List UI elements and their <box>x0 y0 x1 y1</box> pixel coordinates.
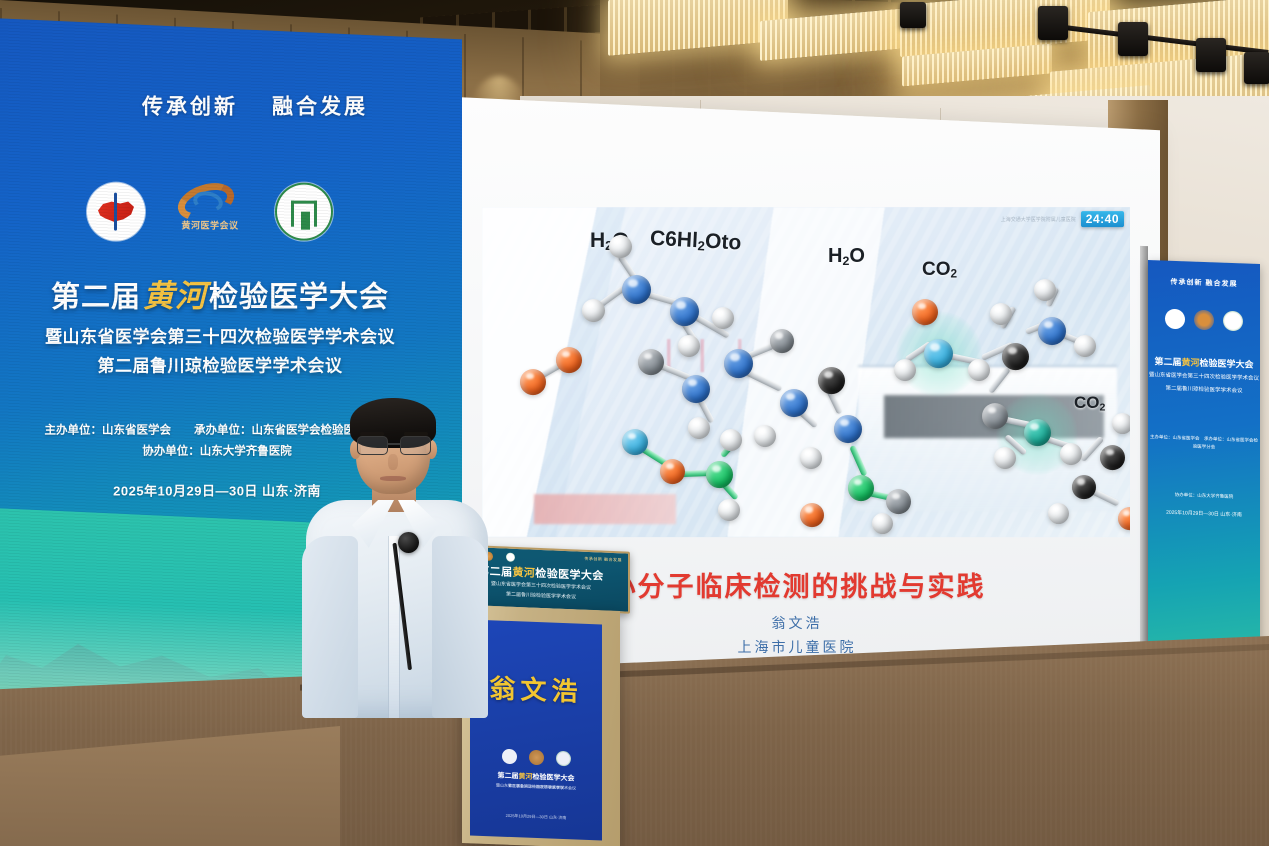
panel-title-highlight: 黄河 <box>519 773 533 781</box>
panel-title-prefix: 第二届 <box>498 773 519 781</box>
banner-title-prefix: 第二届 <box>1154 356 1181 367</box>
atom-oxygen <box>912 299 938 325</box>
left-arm <box>302 536 358 718</box>
atom-hydrogen <box>1048 503 1069 524</box>
molecule-illustration: H2O C6Hl2Oto H2O CO2 CO2 <box>482 207 1130 537</box>
atom-carbon <box>1072 475 1096 499</box>
formula-co2-right: CO2 <box>1074 393 1105 413</box>
stage-spotlight <box>900 2 926 28</box>
mouth <box>380 476 406 481</box>
huanghe-medical-conference-logo <box>529 750 544 766</box>
microphone-icon <box>398 532 419 553</box>
atom-oxygen <box>622 429 648 455</box>
atom-hydrogen <box>678 335 700 357</box>
atom-carbon <box>1100 445 1125 470</box>
banner-title-highlight: 黄河 <box>1181 357 1199 368</box>
shandong-medical-association-logo <box>87 183 145 241</box>
slide-watermark: 上海交通大学医学院附属儿童医院 24:40 <box>1001 211 1124 227</box>
backdrop-logo-row: 黄河医学会议 <box>87 183 333 241</box>
atom-nitrogen <box>924 339 953 368</box>
watermark-text: 上海交通大学医学院附属儿童医院 <box>1001 216 1076 223</box>
banner-organizer-2: 协办单位：山东大学齐鲁医院 <box>1148 490 1260 502</box>
atom-hydrogen <box>688 417 710 439</box>
atom-nitrogen <box>670 297 699 326</box>
atom-nitrogen <box>834 415 862 443</box>
glasses <box>356 436 432 456</box>
backdrop-title-line1: 第二届黄河检验医学大会 <box>10 271 430 316</box>
atom-carbon <box>770 329 794 353</box>
atom-nitrogen <box>780 389 808 417</box>
qilu-hospital-logo <box>556 751 571 767</box>
atom-nitrogen <box>724 349 753 378</box>
banner-tagline: 传承创新 融合发展 <box>1148 276 1260 290</box>
title-suffix: 检验医学大会 <box>209 282 389 314</box>
formula-h2o-mid: H2O <box>828 245 865 268</box>
atom-hydrogen <box>872 513 893 534</box>
atom-oxygen <box>660 459 685 484</box>
lens-right <box>400 436 431 455</box>
atom-hydrogen <box>712 307 734 329</box>
huanghe-medical-conference-logo: 黄河医学会议 <box>173 183 247 241</box>
backdrop-title-line2: 暨山东省医学会第三十四次检验医学学术会议 <box>10 323 430 348</box>
speaker-person <box>300 396 490 716</box>
atom-carbon <box>706 461 733 488</box>
qilu-hospital-logo <box>506 553 515 562</box>
backdrop-title-block: 第二届黄河检验医学大会 暨山东省医学会第三十四次检验医学学术会议 第二届鲁川琼检… <box>10 271 430 377</box>
tagline-part-2: 融合发展 <box>272 91 368 121</box>
atom-hydrogen <box>609 235 632 258</box>
atom-carbon <box>1024 419 1051 446</box>
atom-hydrogen <box>718 499 740 521</box>
atom-hydrogen <box>1034 279 1056 301</box>
atom-hydrogen <box>800 447 822 469</box>
lab-red-object <box>534 494 677 524</box>
qilu-hospital-logo <box>1223 311 1243 332</box>
atom-hydrogen <box>994 447 1016 469</box>
atom-hydrogen <box>894 359 916 381</box>
stage-spotlight <box>1118 22 1148 56</box>
banner-date: 2025年10月29日—30日 山东·济南 <box>1148 508 1260 519</box>
backdrop-title-line3: 第二届鲁川琼检验医学学术会议 <box>10 352 430 377</box>
huanghe-medical-conference-logo <box>1194 310 1214 331</box>
shandong-medical-association-logo <box>1165 309 1185 330</box>
atom-carbon <box>886 489 911 514</box>
atom-oxygen <box>800 503 824 527</box>
backdrop-tagline: 传承创新 融合发展 <box>142 91 422 121</box>
atom-carbon <box>848 475 874 501</box>
atom-carbon <box>982 403 1008 429</box>
countdown-timer: 24:40 <box>1081 211 1124 227</box>
title-highlight-huanghe: 黄河 <box>141 279 209 314</box>
atom-carbon <box>638 349 664 375</box>
side-roll-up-banner: 传承创新 融合发展 第二届黄河检验医学大会 暨山东省医学会第三十四次检验医学学术… <box>1148 260 1260 684</box>
podium-title-highlight: 黄河 <box>512 567 535 580</box>
atom-carbon <box>1002 343 1029 370</box>
stage-spotlight <box>1038 6 1068 40</box>
atom-hydrogen <box>582 299 605 322</box>
atom-nitrogen <box>1038 317 1066 345</box>
gate-icon <box>291 201 317 227</box>
asclepius-rod-icon <box>114 193 117 231</box>
panel-title-suffix: 检验医学大会 <box>533 774 575 783</box>
banner-organizer-1: 主办单位：山东省医学会 承办单位：山东省医学会检验医学分会 <box>1148 433 1260 454</box>
glasses-bridge <box>388 443 400 445</box>
banner-stand <box>1140 246 1148 706</box>
atom-hydrogen <box>968 359 990 381</box>
banner-title: 第二届黄河检验医学大会 <box>1148 354 1260 371</box>
atom-oxygen <box>520 369 546 395</box>
conference-stage-photo: H2O C6Hl2Oto H2O CO2 CO2 <box>0 0 1269 846</box>
atom-hydrogen <box>754 425 776 447</box>
atom-hydrogen <box>990 303 1012 325</box>
stage-spotlight <box>1196 38 1226 72</box>
podium-panel-date: 2025年10月29日—30日 山东·济南 <box>470 811 602 822</box>
atom-oxygen <box>556 347 582 373</box>
banner-logo-row <box>1148 308 1260 332</box>
nose <box>388 454 398 470</box>
title-prefix: 第二届 <box>51 282 141 314</box>
atom-hydrogen <box>1060 443 1082 465</box>
banner-subtitle-1: 暨山东省医学会第三十四次检验医学学术会议 <box>1148 371 1260 384</box>
formula-co2-upper: CO2 <box>922 259 957 281</box>
tagline-part-1: 传承创新 <box>142 91 238 121</box>
banner-title-suffix: 检验医学大会 <box>1200 358 1254 370</box>
shandong-medical-association-logo <box>502 749 517 765</box>
podium-title-suffix: 检验医学大会 <box>535 568 603 583</box>
formula-c6h12o6: C6Hl2Oto <box>649 227 741 256</box>
right-arm <box>432 536 488 718</box>
qilu-hospital-logo <box>275 183 333 241</box>
stage-spotlight <box>1244 52 1269 84</box>
atom-hydrogen <box>720 429 742 451</box>
atom-nitrogen <box>622 275 651 304</box>
banner-subtitle-2: 第二届鲁川琼检验医学学术会议 <box>1148 384 1260 397</box>
atom-hydrogen <box>1112 413 1130 434</box>
lens-left <box>357 436 388 455</box>
huanghe-logo-label: 黄河医学会议 <box>173 219 247 232</box>
atom-nitrogen <box>682 375 710 403</box>
atom-hydrogen <box>1074 335 1096 357</box>
atom-carbon <box>818 367 845 394</box>
podium-panel-logos <box>470 747 602 767</box>
